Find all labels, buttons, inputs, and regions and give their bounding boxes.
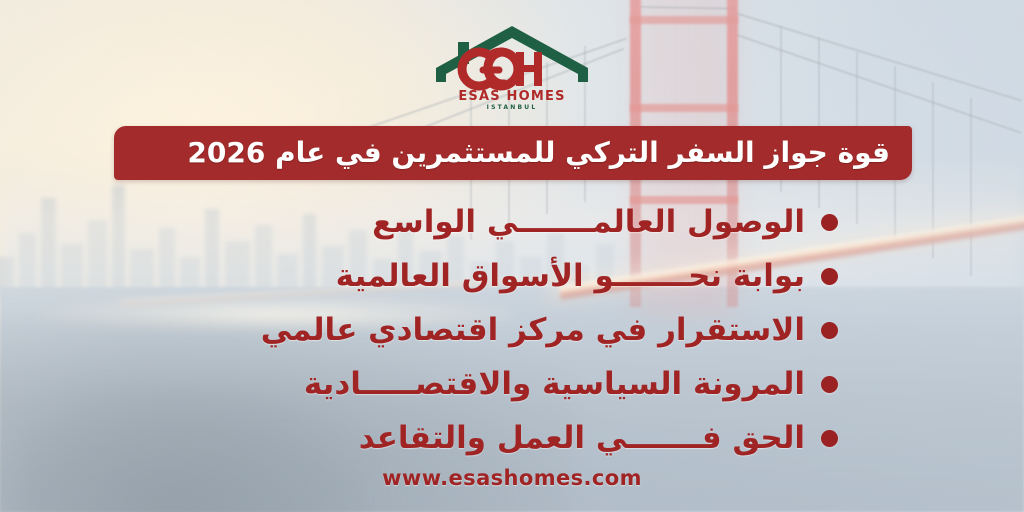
list-item: بوابة نحـــــــو الأسواق العالمية bbox=[178, 250, 838, 302]
bullet-dot-icon bbox=[821, 268, 838, 285]
poster-content: ESAS HOMES ISTANBUL قوة جواز السفر الترك… bbox=[0, 0, 1024, 512]
benefits-list: الوصول العالمـــــــي الواسع بوابة نحـــ… bbox=[178, 196, 838, 464]
list-item: الحق فـــــــي العمل والتقاعد bbox=[178, 412, 838, 464]
logo-company-location: ISTANBUL bbox=[487, 104, 538, 111]
list-item: المرونة السياسية والاقتصـــــادية bbox=[178, 358, 838, 410]
list-item-label: بوابة نحـــــــو الأسواق العالمية bbox=[336, 259, 805, 293]
list-item: الاستقرار في مركز اقتصادي عالمي bbox=[178, 304, 838, 356]
title-banner: قوة جواز السفر التركي للمستثمرين في عام … bbox=[114, 126, 912, 180]
list-item-label: الوصول العالمـــــــي الواسع bbox=[372, 205, 805, 239]
bullet-dot-icon bbox=[821, 322, 838, 339]
website-url[interactable]: www.esashomes.com bbox=[0, 466, 1024, 490]
bullet-dot-icon bbox=[821, 214, 838, 231]
eh-monogram-icon bbox=[462, 52, 542, 86]
list-item-label: المرونة السياسية والاقتصـــــادية bbox=[304, 367, 805, 401]
page-title: قوة جواز السفر التركي للمستثمرين في عام … bbox=[187, 139, 890, 167]
esas-homes-logo[interactable]: ESAS HOMES ISTANBUL bbox=[428, 14, 596, 114]
list-item-label: الحق فـــــــي العمل والتقاعد bbox=[359, 421, 805, 455]
bullet-dot-icon bbox=[821, 376, 838, 393]
list-item: الوصول العالمـــــــي الواسع bbox=[178, 196, 838, 248]
bullet-dot-icon bbox=[821, 430, 838, 447]
logo-company-name: ESAS HOMES bbox=[458, 89, 565, 104]
poster-canvas: ESAS HOMES ISTANBUL قوة جواز السفر الترك… bbox=[0, 0, 1024, 512]
list-item-label: الاستقرار في مركز اقتصادي عالمي bbox=[261, 313, 805, 347]
